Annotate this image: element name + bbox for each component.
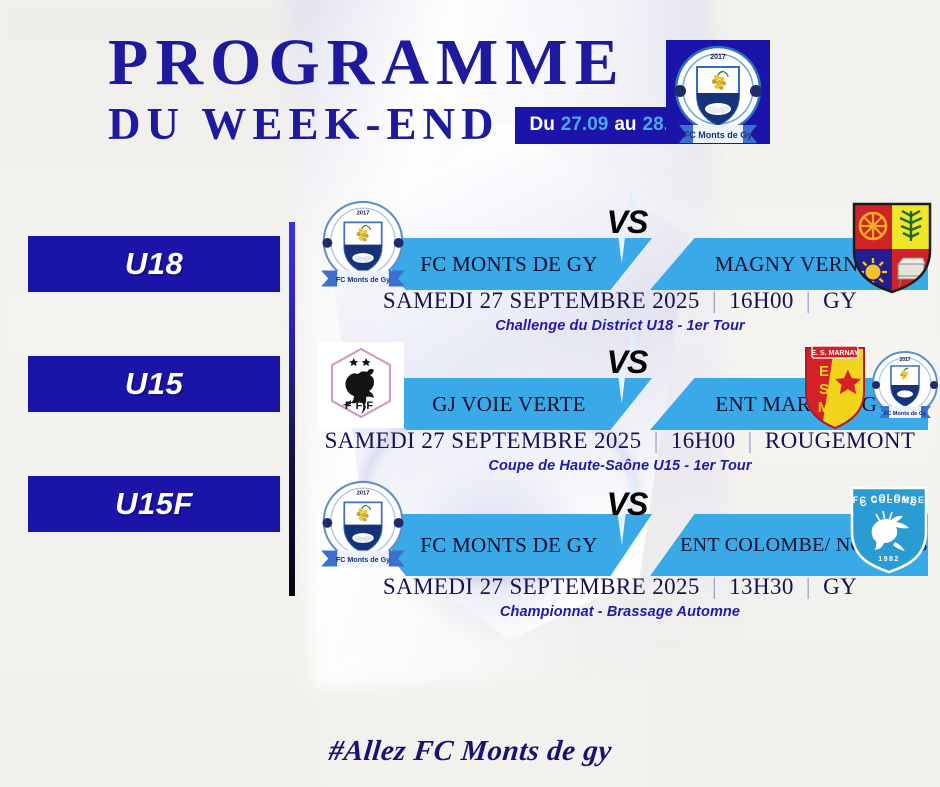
svg-text:2017: 2017 <box>357 210 370 216</box>
away-crest-ent-marnay-gy: E. S. MARNAY E S M 2017 <box>800 340 940 436</box>
page-title: PROGRAMME <box>108 30 704 96</box>
svg-text:FC Monts de Gy: FC Monts de Gy <box>336 276 390 284</box>
category-button-u18[interactable]: U18 <box>28 236 280 292</box>
match-date: SAMEDI 27 SEPTEMBRE 2025 <box>383 288 700 313</box>
separator: | <box>706 288 723 313</box>
vs-label: VS <box>584 344 670 381</box>
poster: PROGRAMME DU WEEK-END Du 27.09 au 28.09 … <box>0 0 940 787</box>
colombe-year: 1982 <box>878 556 900 563</box>
category-label: U15F <box>115 486 193 522</box>
match-time: 16H00 <box>671 428 736 453</box>
home-team-name: GJ VOIE VERTE <box>432 393 586 415</box>
svg-text:2017: 2017 <box>899 357 910 363</box>
match-time: 16H00 <box>729 288 794 313</box>
separator: | <box>800 574 817 599</box>
vs-marker: VS <box>584 188 670 260</box>
away-crest-magny-vernois <box>846 198 938 303</box>
svg-text:M: M <box>818 399 831 416</box>
vs-label: VS <box>584 204 670 241</box>
match-row: 2017 <box>300 196 940 336</box>
poster-header: PROGRAMME DU WEEK-END Du 27.09 au 28.09 … <box>0 0 940 170</box>
svg-text:S: S <box>819 381 829 398</box>
match-competition: Championnat - Brassage Automne <box>300 604 940 620</box>
vs-marker: VS <box>584 470 670 542</box>
home-team-name: FC MONTS DE GY <box>420 534 597 556</box>
svg-text:E: E <box>819 363 829 380</box>
vs-label: VS <box>584 486 670 523</box>
home-crest-fff: FFF <box>318 342 404 433</box>
home-crest-fc-monts-de-gy: 2017 <box>314 478 412 579</box>
svg-text:FC Monts de Gy: FC Monts de Gy <box>884 411 927 417</box>
match-info: SAMEDI 27 SEPTEMBRE 2025 | 13H30 | GY Ch… <box>300 574 940 620</box>
footer-hashtag: #Allez FC Monts de gy <box>327 735 613 768</box>
svg-text:2017: 2017 <box>357 490 370 496</box>
fff-text: FFF <box>345 400 377 412</box>
fc-colombe-crest-icon: FC COLOMBE FC COLOMBE 1982 <box>846 482 932 576</box>
match-time: 13H30 <box>729 574 794 599</box>
svg-text:2017: 2017 <box>710 54 726 61</box>
magny-vernois-crest-icon <box>846 198 938 298</box>
match-row: 2017 <box>300 476 940 616</box>
svg-text:FC Monts de Gy: FC Monts de Gy <box>336 556 390 564</box>
page-subtitle: DU WEEK-END <box>108 102 499 147</box>
home-crest-fc-monts-de-gy: 2017 <box>314 198 412 299</box>
poster-footer: #Allez FC Monts de gy <box>0 735 940 768</box>
title-block: PROGRAMME DU WEEK-END Du 27.09 au 28.09 <box>108 30 704 147</box>
es-marnay-crest-icon: E. S. MARNAY E S M 2017 <box>800 340 940 436</box>
club-logo-ribbon-text: FC Monts de Gy <box>684 130 753 140</box>
category-button-u15f[interactable]: U15F <box>28 476 280 532</box>
match-date: SAMEDI 27 SEPTEMBRE 2025 <box>383 574 700 599</box>
fc-monts-de-gy-crest-icon: 2017 <box>314 198 412 294</box>
fc-monts-de-gy-crest-icon: 2017 <box>314 478 412 574</box>
separator: | <box>648 428 665 453</box>
marnay-banner-text: E. S. MARNAY <box>811 350 859 357</box>
vs-marker: VS <box>584 328 670 400</box>
vertical-divider <box>289 222 295 596</box>
date-start: 27.09 <box>561 114 609 136</box>
club-logo: 2017 <box>663 37 773 152</box>
category-list: U18 U15 U15F <box>28 236 280 596</box>
home-team-name: FC MONTS DE GY <box>420 253 597 275</box>
date-prefix: Du <box>529 114 554 136</box>
category-button-u15[interactable]: U15 <box>28 356 280 412</box>
category-label: U15 <box>125 366 183 402</box>
fff-logo-icon: FFF <box>318 342 404 428</box>
separator: | <box>742 428 759 453</box>
colombe-name: FC COLOMBE <box>853 495 926 505</box>
match-list: 2017 <box>300 196 940 616</box>
away-crest-fc-colombe: FC COLOMBE FC COLOMBE 1982 <box>846 482 932 581</box>
fc-monts-de-gy-logo-icon: 2017 <box>663 37 773 147</box>
separator: | <box>800 288 817 313</box>
category-label: U18 <box>125 246 183 282</box>
date-middle: au <box>614 114 636 136</box>
match-row: FFF GJ VOIE VERTE ENT MARNAY/GY VS <box>300 336 940 476</box>
separator: | <box>706 574 723 599</box>
